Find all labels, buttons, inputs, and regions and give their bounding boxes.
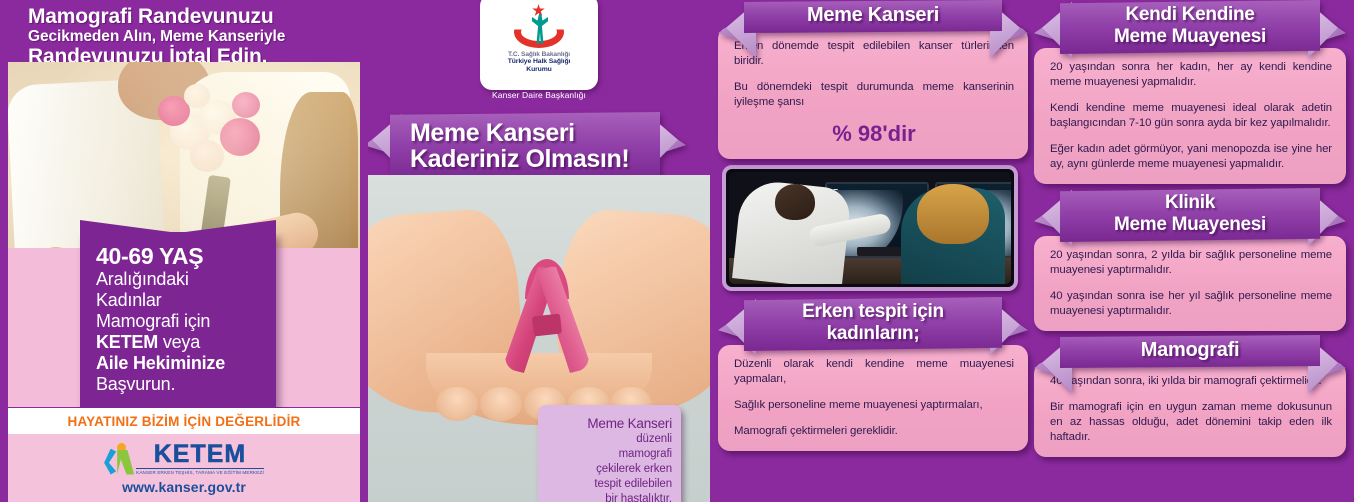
card-title-line1: Mamografi <box>1068 339 1312 362</box>
right-column-left: Meme Kanseri Erken dönemde tespit edileb… <box>718 0 1028 455</box>
card-meme-kanseri: Meme Kanseri Erken dönemde tespit edileb… <box>718 0 1028 159</box>
ministry-caption: Kanser Daire Başkanlığı <box>368 90 710 100</box>
center-title-line2: Kaderiniz Olmasın! <box>410 146 648 172</box>
doctor-mammogram-photo: R L <box>722 165 1018 291</box>
card-paragraph: 40 yaşından sonra ise her yıl sağlık per… <box>1050 289 1332 319</box>
callout-line6: Aile Hekiminize <box>96 353 266 374</box>
left-slogan-bar: HAYATINIZ BİZİM İÇİN DEĞERLİDİR <box>8 408 360 434</box>
card-body: Düzenli olarak kendi kendine meme muayen… <box>718 345 1028 451</box>
card-mamografi: Mamografi 40 yaşından sonra, iki yılda b… <box>1034 335 1346 457</box>
callout-line7: Başvurun. <box>96 374 266 395</box>
photo-patient-hair <box>917 184 989 244</box>
photo-knuckle-2 <box>480 387 522 421</box>
ministry-line3: Kurumu <box>526 66 551 74</box>
card-paragraph: Erken dönemde tespit edilebilen kanser t… <box>734 39 1014 69</box>
left-headline-line1: Mamografi Randevunuzu <box>28 6 360 28</box>
center-panel: T.C. Sağlık Bakanlığı Türkiye Halk Sağlı… <box>368 0 710 502</box>
callout-line5-bold: KETEM <box>96 332 158 352</box>
ketem-figure-icon <box>104 443 134 475</box>
center-info-title: Meme Kanseri <box>547 415 672 432</box>
card-title-line1: Erken tespit için <box>752 301 994 323</box>
card-klinik: Klinik Meme Muayenesi 20 yaşından sonra,… <box>1034 188 1346 331</box>
age-range-callout: 40-69 YAŞ Aralığındaki Kadınlar Mamograf… <box>80 232 276 409</box>
card-title-line2: kadınların; <box>752 323 994 345</box>
center-info-line5: bir hastalıktır. <box>547 492 672 502</box>
card-body: 20 yaşından sonra her kadın, her ay kend… <box>1034 48 1346 184</box>
callout-line4: Mamografi için <box>96 311 266 332</box>
card-header-banner: Kendi Kendine Meme Muayenesi <box>1060 0 1320 54</box>
photo-knuckle-1 <box>436 387 478 421</box>
card-paragraph: Kendi kendine meme muayenesi ideal olara… <box>1050 101 1332 131</box>
card-header-ribbon: Erken tespit için kadınların; <box>744 297 1002 351</box>
card-paragraph: 40 yaşından sonra, iki yılda bir mamogra… <box>1050 374 1332 389</box>
card-paragraph: Sağlık personeline meme muayenesi yaptır… <box>734 398 1014 413</box>
poster-root: Mamografi Randevunuzu Gecikmeden Alın, M… <box>0 0 1354 502</box>
card-paragraph: 20 yaşından sonra, 2 yılda bir sağlık pe… <box>1050 248 1332 278</box>
card-paragraph: Düzenli olarak kendi kendine meme muayen… <box>734 357 1014 387</box>
center-info-line2: mamografi <box>547 447 672 462</box>
photo-doctor-head <box>775 184 815 220</box>
ketem-website-url[interactable]: www.kanser.gov.tr <box>122 479 246 495</box>
ketem-wordmark: KETEM KANSER ERKEN TEŞHİS, TARAMA VE EĞİ… <box>136 442 264 476</box>
ketem-subtitle: KANSER ERKEN TEŞHİS, TARAMA VE EĞİTİM ME… <box>136 468 264 476</box>
callout-line1: 40-69 YAŞ <box>96 244 266 269</box>
photo-inner: R L <box>729 172 1011 284</box>
ministry-line1: T.C. Sağlık Bakanlığı <box>508 51 570 58</box>
center-info-line3: çekilerek erken <box>547 462 672 477</box>
card-title-line1: Meme Kanseri <box>752 4 994 27</box>
pink-ribbon-icon <box>509 263 585 383</box>
ketem-name: KETEM <box>154 442 247 467</box>
card-header-banner: Mamografi <box>1060 335 1320 368</box>
right-column-right: Kendi Kendine Meme Muayenesi 20 yaşından… <box>1034 0 1346 461</box>
center-info-line1: düzenli <box>547 432 672 447</box>
card-header-ribbon: Klinik Meme Muayenesi <box>1060 188 1320 242</box>
survival-rate-highlight: % 98'dir <box>734 121 1014 147</box>
card-paragraph: Mamografi çektirmeleri gereklidir. <box>734 424 1014 439</box>
callout-line5-rest: veya <box>158 332 200 352</box>
card-title-line2: Meme Muayenesi <box>1068 26 1312 48</box>
card-header-ribbon: Kendi Kendine Meme Muayenesi <box>1060 0 1320 54</box>
left-headline-line2: Gecikmeden Alın, Meme Kanseriyle <box>28 28 360 46</box>
ministry-line2: Türkiye Halk Sağlığı <box>508 58 571 66</box>
center-title-ribbon: Meme Kanseri Kaderiniz Olmasın! <box>390 112 660 182</box>
ministry-emblem-icon <box>508 2 570 48</box>
card-header-ribbon: Mamografi <box>1060 335 1320 368</box>
card-paragraph: Bir mamografi için en uygun zaman meme d… <box>1050 400 1332 445</box>
left-headline-block: Mamografi Randevunuzu Gecikmeden Alın, M… <box>0 0 368 64</box>
card-body: 40 yaşından sonra, iki yılda bir mamogra… <box>1034 362 1346 457</box>
card-header-ribbon: Meme Kanseri <box>744 0 1002 33</box>
center-info-box: Meme Kanseri düzenli mamografi çekilerek… <box>538 405 681 502</box>
card-header-banner: Erken tespit için kadınların; <box>744 297 1002 351</box>
left-slogan-text: HAYATINIZ BİZİM İÇİN DEĞERLİDİR <box>68 414 301 429</box>
center-info-line4: tespit edilebilen <box>547 477 672 492</box>
card-paragraph: Bu dönemdeki tespit durumunda meme kanse… <box>734 80 1014 110</box>
card-title-line2: Meme Muayenesi <box>1068 214 1312 236</box>
card-title-line1: Kendi Kendine <box>1068 4 1312 26</box>
card-paragraph: Eğer kadın adet görmüyor, yani menopozda… <box>1050 142 1332 172</box>
ribbon-crossing <box>532 314 562 337</box>
card-kendi-kendine: Kendi Kendine Meme Muayenesi 20 yaşından… <box>1034 0 1346 184</box>
right-panel: Meme Kanseri Erken dönemde tespit edileb… <box>710 0 1354 502</box>
flower-pink-2 <box>220 118 260 156</box>
flower-cream-4 <box>184 84 210 108</box>
card-body: 20 yaşından sonra, 2 yılda bir sağlık pe… <box>1034 236 1346 331</box>
flower-cream-3 <box>190 140 224 172</box>
card-erken-tespit: Erken tespit için kadınların; Düzenli ol… <box>718 297 1028 451</box>
card-header-banner: Klinik Meme Muayenesi <box>1060 188 1320 242</box>
card-header-banner: Meme Kanseri <box>744 0 1002 33</box>
center-title-line1: Meme Kanseri <box>410 120 648 146</box>
flower-pink-3 <box>232 92 260 118</box>
left-panel: Mamografi Randevunuzu Gecikmeden Alın, M… <box>0 0 368 502</box>
ketem-logo: KETEM KANSER ERKEN TEŞHİS, TARAMA VE EĞİ… <box>104 442 264 476</box>
callout-line2: Aralığındaki <box>96 269 266 290</box>
ministry-logo-card: T.C. Sağlık Bakanlığı Türkiye Halk Sağlı… <box>480 0 598 90</box>
ketem-person-icon <box>117 450 134 475</box>
callout-line5: KETEM veya <box>96 332 266 353</box>
left-footer: KETEM KANSER ERKEN TEŞHİS, TARAMA VE EĞİ… <box>8 434 360 502</box>
ketem-arc-icon <box>104 449 116 475</box>
card-body: Erken dönemde tespit edilebilen kanser t… <box>718 27 1028 159</box>
photo-flower-bouquet <box>154 84 284 204</box>
center-title-banner: Meme Kanseri Kaderiniz Olmasın! <box>390 112 660 182</box>
callout-line3: Kadınlar <box>96 290 266 311</box>
star-icon <box>532 4 545 17</box>
card-paragraph: 20 yaşından sonra her kadın, her ay kend… <box>1050 60 1332 90</box>
card-title-line1: Klinik <box>1068 192 1312 214</box>
